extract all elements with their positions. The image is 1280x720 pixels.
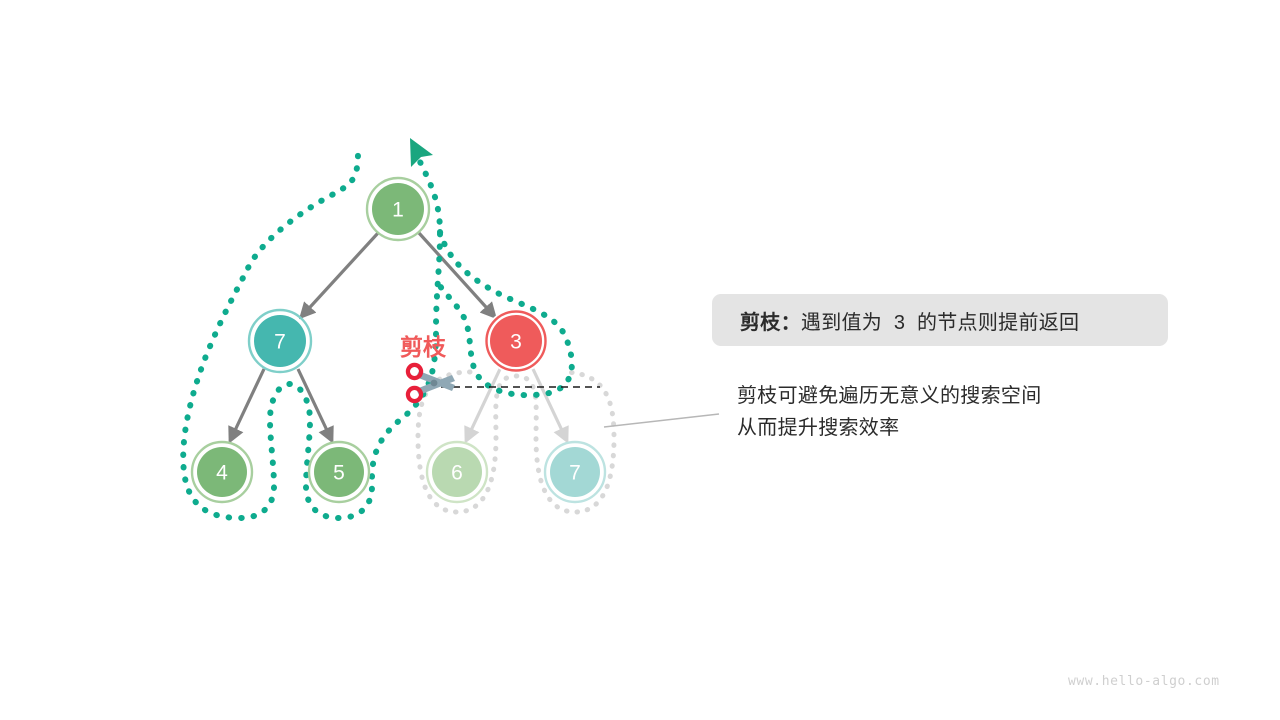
edge-7-5 <box>298 369 332 441</box>
tree-node-n2[interactable]: 7 <box>249 310 311 372</box>
tree-node-n5[interactable]: 5 <box>309 442 369 502</box>
tree-node-label: 1 <box>392 199 404 222</box>
prune-explanation-note: 剪枝可避免遍历无意义的搜索空间 从而提升搜索效率 <box>737 380 1167 444</box>
prune-annotation-label: 剪枝 <box>400 334 447 360</box>
edge-7-4 <box>230 369 264 441</box>
tree-diagram-canvas: 1 7 3 4 5 6 <box>0 0 1280 720</box>
prune-callout-detail: 遇到值为 3 的节点则提前返回 <box>801 312 1079 334</box>
edge-1-7 <box>301 233 378 317</box>
tree-node-label: 7 <box>274 331 286 354</box>
prune-callout-box: 剪枝：遇到值为 3 的节点则提前返回 <box>712 294 1168 346</box>
note-leader-line <box>604 414 719 427</box>
note-line-2: 从而提升搜索效率 <box>737 412 1167 444</box>
tree-node-n1[interactable]: 1 <box>367 178 429 240</box>
note-line-1: 剪枝可避免遍历无意义的搜索空间 <box>737 380 1167 412</box>
tree-node-n6[interactable]: 6 <box>427 442 487 502</box>
tree-node-label: 5 <box>333 462 345 485</box>
tree-node-n7[interactable]: 7 <box>545 442 605 502</box>
tree-node-label: 7 <box>569 462 581 485</box>
tree-nodes: 1 7 3 4 5 6 <box>192 178 605 502</box>
prune-callout-text: 剪枝：遇到值为 3 的节点则提前返回 <box>740 306 1079 335</box>
tree-node-n4[interactable]: 4 <box>192 442 252 502</box>
prune-callout-label: 剪枝： <box>740 312 801 334</box>
tree-node-label: 6 <box>451 462 463 485</box>
site-watermark: www.hello-algo.com <box>1068 674 1220 689</box>
tree-node-label: 3 <box>510 331 522 354</box>
tree-node-n3[interactable]: 3 <box>485 310 547 372</box>
tree-node-label: 4 <box>216 462 228 485</box>
